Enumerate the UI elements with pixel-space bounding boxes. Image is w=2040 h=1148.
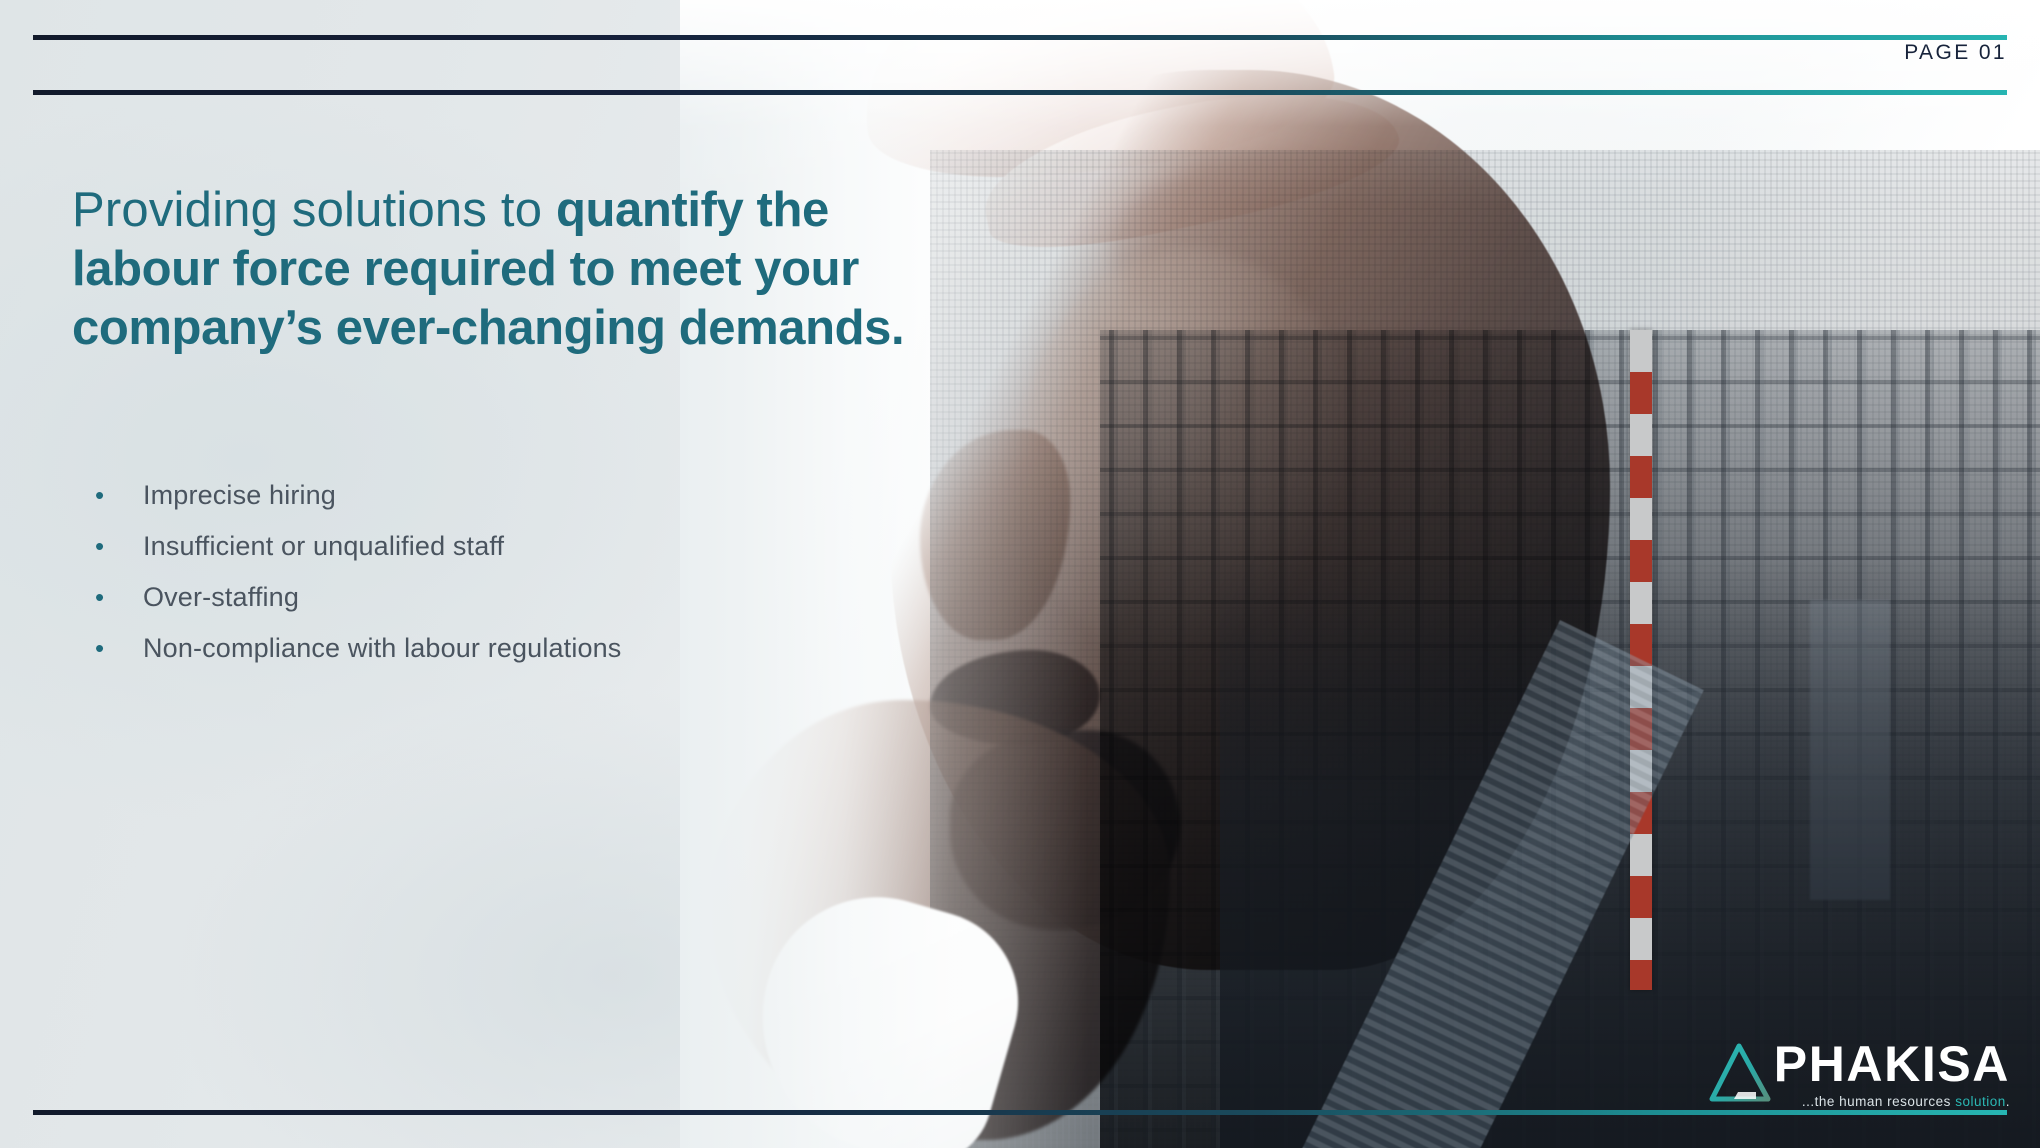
double-exposure-photo [680,0,2040,1148]
logo-tagline-lead: ...the human resources [1802,1094,1955,1109]
list-item-label: Over-staffing [143,582,299,613]
pain-points-list: • Imprecise hiring • Insufficient or unq… [95,480,855,684]
slide-canvas: PAGE 01 Providing solutions to quantify … [0,0,2040,1148]
list-item-label: Insufficient or unqualified staff [143,531,504,562]
logo-text-block: PHAKISA ...the human resources solution. [1774,1039,2010,1110]
logo-tagline-end: . [2006,1094,2010,1109]
bullet-dot-icon: • [95,635,143,661]
logo-wordmark: PHAKISA [1774,1039,2010,1089]
list-item: • Over-staffing [95,582,855,633]
footer-rule [33,1110,2007,1115]
bullet-dot-icon: • [95,584,143,610]
list-item: • Imprecise hiring [95,480,855,531]
page-title: Providing solutions to quantify the labo… [72,181,952,358]
header-rule-upper [33,35,2007,40]
header-rule-lower [33,90,2007,95]
page-number-label: PAGE 01 [1904,41,2007,65]
list-item: • Insufficient or unqualified staff [95,531,855,582]
phakisa-triangle-icon [1708,1042,1772,1104]
bullet-dot-icon: • [95,482,143,508]
phakisa-logo: PHAKISA ...the human resources solution. [1708,1039,2010,1110]
list-item-label: Non-compliance with labour regulations [143,633,621,664]
list-item-label: Imprecise hiring [143,480,336,511]
logo-tagline-accent: solution [1955,1094,2006,1109]
list-item: • Non-compliance with labour regulations [95,633,855,684]
photo-top-fade [680,0,2040,1148]
logo-tagline: ...the human resources solution. [1802,1094,2010,1110]
headline-light-text: Providing solutions to [72,183,556,237]
bullet-dot-icon: • [95,533,143,559]
